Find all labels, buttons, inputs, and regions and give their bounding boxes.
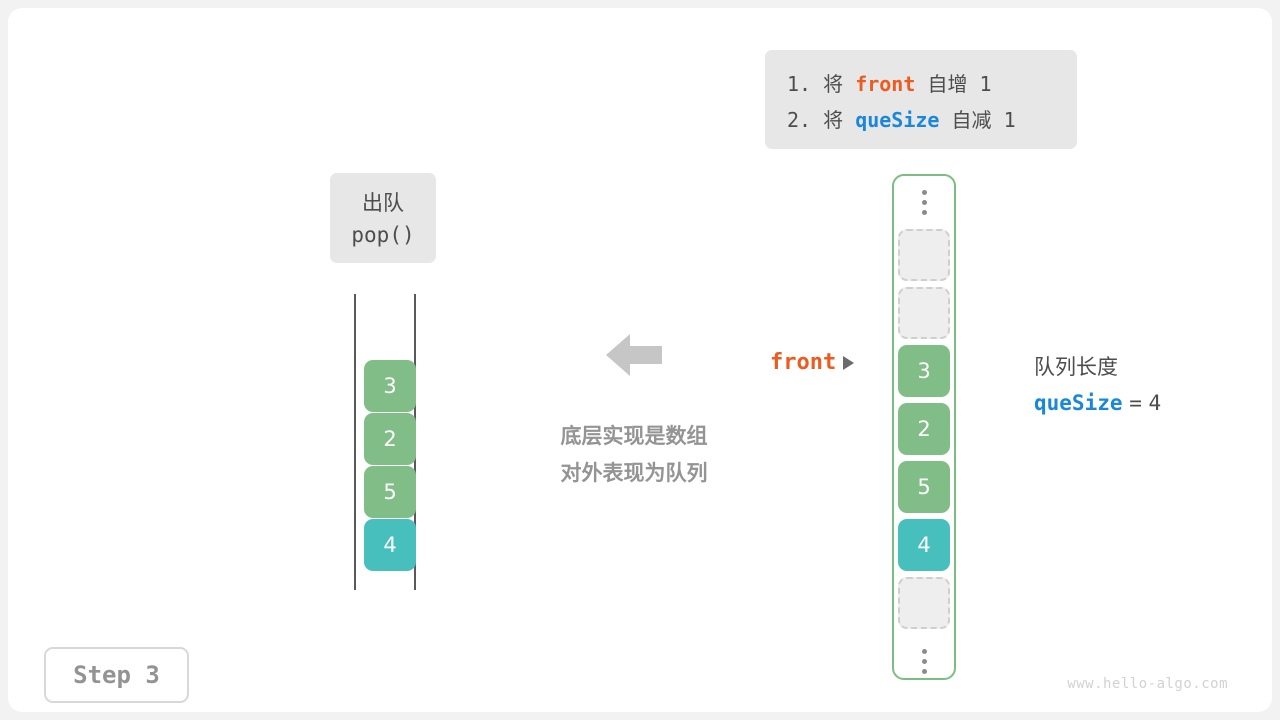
diagram-sheet: 1. 将 front 自增 1 2. 将 queSize 自减 1 出队 pop… [8, 8, 1272, 712]
op-line2-code-quesize: queSize [855, 108, 939, 132]
op-line2-before: 将 [823, 108, 843, 132]
op-line2-index: 2. [787, 108, 811, 132]
pop-label-title: 出队 [330, 187, 436, 219]
op-line1-code-front: front [855, 72, 915, 96]
queue-cell: 2 [364, 413, 416, 465]
queue-cell: 5 [364, 466, 416, 518]
array-cell: 2 [898, 403, 950, 455]
array-empty-slot [898, 229, 950, 281]
queue-size-equals: = [1129, 391, 1142, 415]
step-badge-text: Step 3 [73, 661, 160, 689]
front-pointer-arrow-icon [843, 356, 854, 370]
array-view-container: 3254 [892, 174, 956, 680]
op-line1-index: 1. [787, 72, 811, 96]
watermark: www.hello-algo.com [1067, 676, 1228, 692]
queue-size-var: queSize [1034, 391, 1123, 415]
array-cell: 4 [898, 519, 950, 571]
operation-note-line-2: 2. 将 queSize 自减 1 [787, 102, 1055, 138]
array-cell: 5 [898, 461, 950, 513]
operation-note-line-1: 1. 将 front 自增 1 [787, 66, 1055, 102]
left-arrow-icon [604, 330, 664, 380]
op-line1-before: 将 [823, 72, 843, 96]
diagram-canvas: 1. 将 front 自增 1 2. 将 queSize 自减 1 出队 pop… [0, 0, 1280, 720]
queue-rail-left [354, 294, 356, 590]
queue-cell: 3 [364, 360, 416, 412]
queue-size-title: 队列长度 [1034, 349, 1161, 385]
queue-size-value: 4 [1149, 391, 1162, 415]
op-line2-after: 自减 1 [952, 108, 1016, 132]
queue-size-expression: queSize = 4 [1034, 385, 1161, 421]
pop-operation-label: 出队 pop() [330, 173, 436, 263]
array-top-ellipsis-icon [922, 176, 927, 227]
queue-view-container: 3254 [354, 294, 416, 590]
array-empty-slot [898, 577, 950, 629]
queue-cell: 4 [364, 519, 416, 571]
array-bottom-ellipsis-icon [922, 635, 927, 686]
array-cell: 3 [898, 345, 950, 397]
queue-cell-stack: 3254 [364, 360, 416, 572]
operation-note: 1. 将 front 自增 1 2. 将 queSize 自减 1 [765, 50, 1077, 149]
step-badge: Step 3 [44, 647, 189, 703]
op-line1-after: 自增 1 [927, 72, 991, 96]
front-pointer-label: front [770, 350, 836, 375]
queue-size-note: 队列长度 queSize = 4 [1034, 349, 1161, 421]
pop-label-method: pop() [330, 219, 436, 251]
caption-line-1: 底层实现是数组 [516, 418, 752, 455]
caption-line-2: 对外表现为队列 [516, 455, 752, 492]
front-pointer: front [770, 350, 854, 375]
array-empty-slot [898, 287, 950, 339]
array-slot-stack: 3254 [898, 229, 950, 635]
diagram-caption: 底层实现是数组 对外表现为队列 [516, 418, 752, 492]
